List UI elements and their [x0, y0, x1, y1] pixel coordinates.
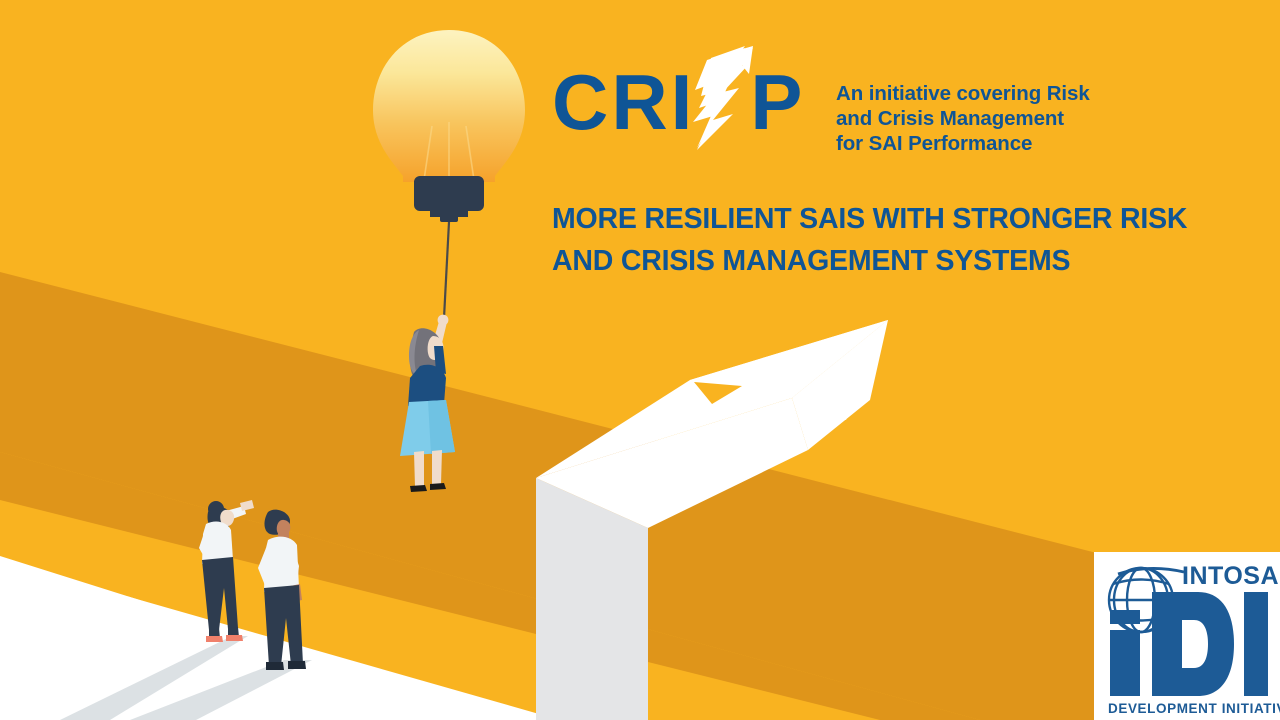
text-block: CRISP An initiative covering Risk and Cr…	[552, 56, 1212, 282]
headline-line-1: MORE RESILIENT SAIS WITH STRONGER RISK	[552, 198, 1212, 240]
tagline-line-2: and Crisis Management	[836, 106, 1090, 131]
brand-logo: CRISP An initiative covering Risk and Cr…	[552, 56, 1212, 156]
brand-tagline: An initiative covering Risk and Crisis M…	[836, 56, 1090, 156]
tagline-line-1: An initiative covering Risk	[836, 81, 1090, 106]
idi-logo: INTOSAI DEVELOPMENT INITIATIVE	[1094, 552, 1280, 720]
crisp-letters-before: CRI	[552, 58, 695, 146]
tagline-line-3: for SAI Performance	[836, 131, 1090, 156]
poster-canvas: CRISP An initiative covering Risk and Cr…	[0, 0, 1280, 720]
crisp-letters-after: P	[750, 58, 805, 146]
intosai-wordmark: INTOSAI	[1182, 562, 1280, 590]
idi-subtitle: DEVELOPMENT INITIATIVE	[1108, 701, 1280, 716]
crisp-bolt-placeholder: S	[695, 58, 750, 146]
headline-line-2: AND CRISIS MANAGEMENT SYSTEMS	[552, 240, 1212, 282]
headline: MORE RESILIENT SAIS WITH STRONGER RISK A…	[552, 198, 1212, 282]
crisp-wordmark: CRISP	[552, 56, 814, 148]
crisp-letters: CRISP	[552, 56, 814, 148]
